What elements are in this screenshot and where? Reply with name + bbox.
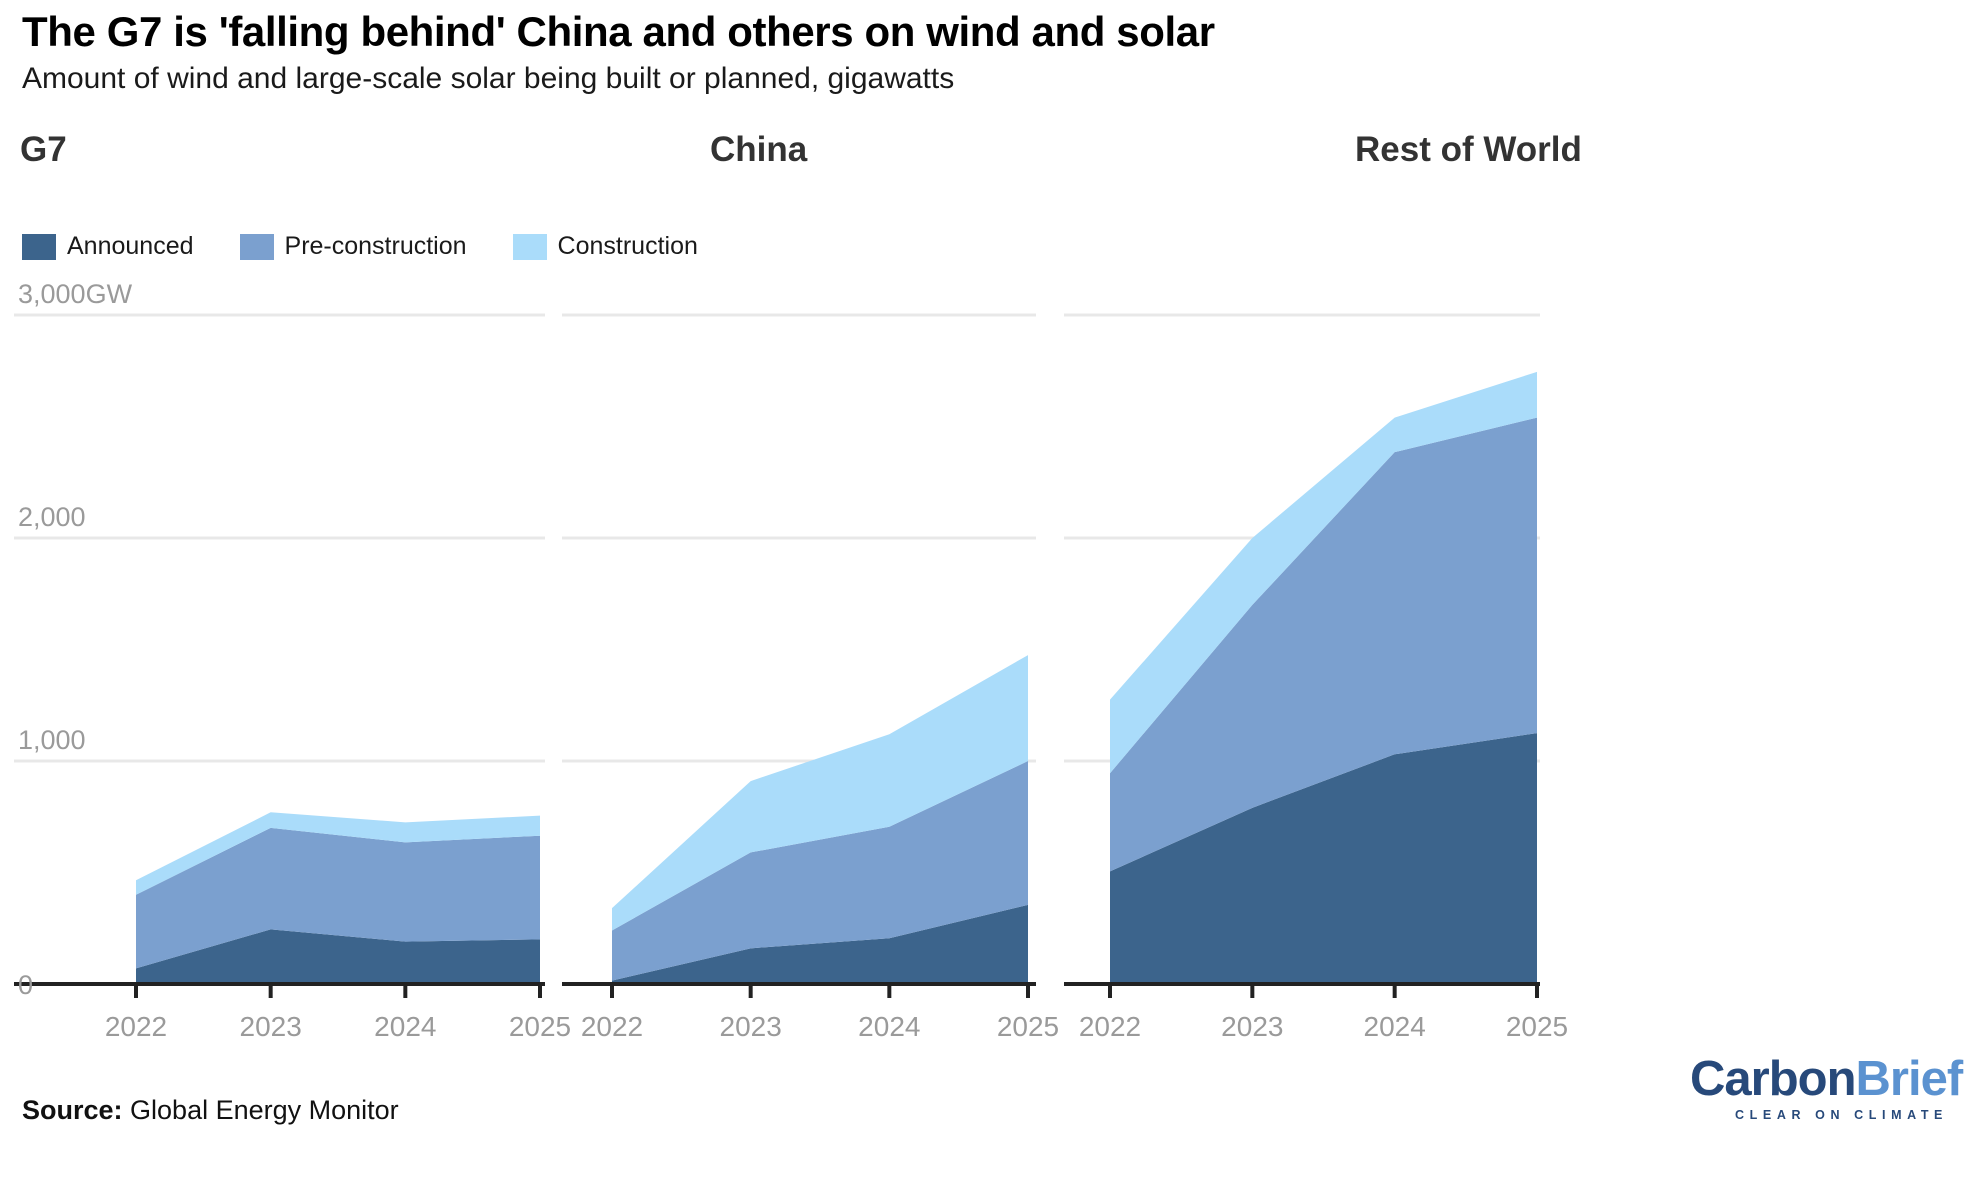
x-tick-label: 2023 [240,1011,302,1042]
y-tick-label: 3,000GW [18,279,133,309]
source-value: Global Energy Monitor [123,1095,399,1125]
y-tick-label: 1,000 [18,725,86,755]
source-label: Source: [22,1095,123,1125]
x-tick-label: 2025 [509,1011,571,1042]
x-tick-label: 2022 [105,1011,167,1042]
x-tick-label: 2024 [1364,1011,1426,1042]
source-note: Source: Global Energy Monitor [22,1095,399,1126]
logo-word-carbon: Carbon [1690,1052,1856,1106]
x-tick-label: 2023 [1221,1011,1283,1042]
carbonbrief-logo: CarbonBrief CLEAR ON CLIMATE [1690,1055,1948,1122]
y-tick-label: 0 [18,970,33,1000]
x-tick-label: 2025 [1506,1011,1568,1042]
x-tick-label: 2024 [374,1011,436,1042]
x-tick-label: 2025 [997,1011,1059,1042]
logo-wordmark: CarbonBrief [1690,1055,1948,1104]
logo-word-brief: Brief [1856,1052,1963,1106]
x-tick-label: 2023 [720,1011,782,1042]
chart-page: The G7 is 'falling behind' China and oth… [0,0,1968,1178]
chart-canvas: 2022202320242025202220232024202520222023… [0,0,1968,1178]
logo-tagline: CLEAR ON CLIMATE [1690,1108,1948,1122]
x-tick-label: 2024 [858,1011,920,1042]
x-tick-label: 2022 [581,1011,643,1042]
y-tick-label: 2,000 [18,502,86,532]
x-tick-label: 2022 [1079,1011,1141,1042]
